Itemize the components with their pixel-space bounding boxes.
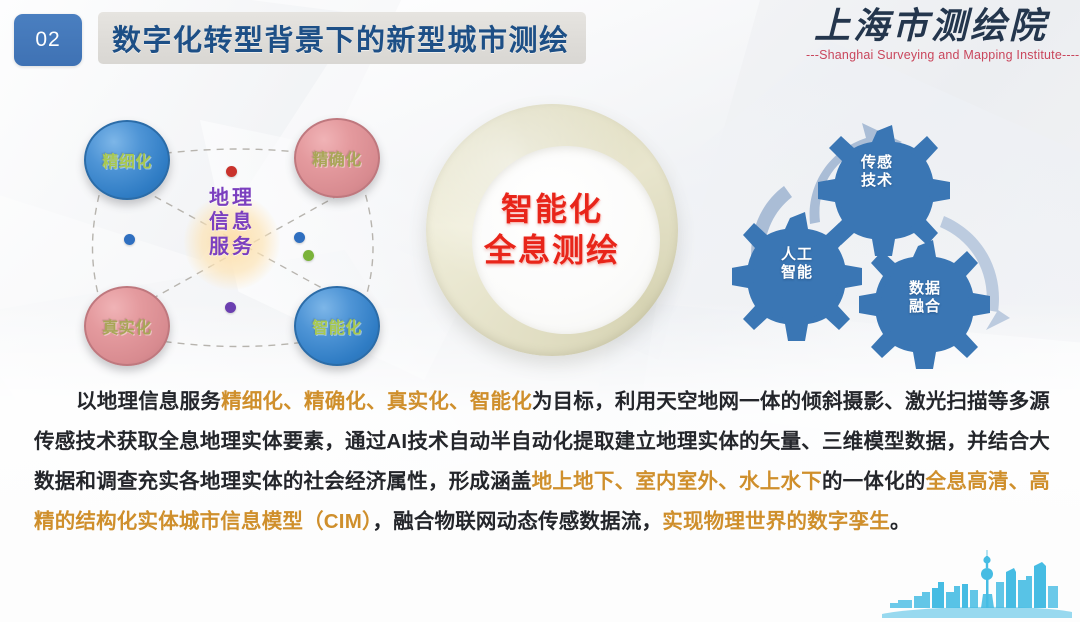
sphere-label: 精确化 [312,146,362,170]
gear-label-line-2: 技术 [842,172,912,190]
section-number-badge: 02 [14,14,82,66]
ring-text: 智能化 全息测绘 [426,189,678,271]
network-node-dot [303,250,314,261]
gear-label-line-2: 智能 [762,264,832,282]
plain-phrase: 。 [890,510,911,533]
sphere-label: 智能化 [312,314,362,338]
sphere-jingxihua: 精细化 [84,120,170,200]
center-label-line-3: 服务 [174,235,290,259]
organization-logo: 上海市测绘院 ---Shanghai Surveying and Mapping… [806,6,1056,62]
sphere-label: 真实化 [102,314,152,338]
highlighted-phrase: 实现物理世界的数字孪生 [662,510,890,533]
gear-label-rengong-zhineng: 人工 智能 [762,246,832,282]
page-title: 数字化转型背景下的新型城市测绘 [112,17,570,59]
title-banner: 数字化转型背景下的新型城市测绘 [98,12,586,64]
highlighted-phrase: 精细化、精确化、真实化、智能化 [221,390,532,413]
gear-label-line-1: 人工 [762,246,832,264]
slide-header: 02 数字化转型背景下的新型城市测绘 上海市测绘院 ---Shanghai Su… [0,0,1080,92]
gear-label-line-2: 融合 [890,298,960,316]
sphere-zhinenghua: 智能化 [294,286,380,366]
sphere-label: 精细化 [102,148,152,172]
center-label: 地理 信息 服务 [174,186,290,259]
graphics-band: 地理 信息 服务 精细化 精确化 真实化 智能化 [0,92,1080,384]
network-node-dot [226,166,237,177]
network-node-dot [124,234,135,245]
shanghai-skyline-icon [882,548,1072,618]
plain-phrase: ，融合物联网动态传感数据流， [372,510,662,533]
sphere-jingquehua: 精确化 [294,118,380,198]
org-name-cn: 上海市测绘院 [806,6,1056,47]
gear-svg [732,98,1032,384]
gear-cluster-graphic: 传感 技术 人工 智能 数据 融合 [732,98,1032,384]
gear-label-shuju-ronghe: 数据 融合 [890,280,960,316]
sphere-zhenshihua: 真实化 [84,286,170,366]
paragraph-text: 以地理信息服务精细化、精确化、真实化、智能化为目标，利用天空地网一体的倾斜摄影、… [34,390,1050,533]
sphere-network-diagram: 地理 信息 服务 精细化 精确化 真实化 智能化 [62,98,402,378]
plain-phrase: 以地理信息服务 [76,390,221,413]
center-label-line-2: 信息 [174,210,290,234]
slide-canvas: 02 数字化转型背景下的新型城市测绘 上海市测绘院 ---Shanghai Su… [0,0,1080,622]
gear-label-line-1: 数据 [890,280,960,298]
center-ring-graphic: 智能化 全息测绘 [412,94,702,382]
gear-label-line-1: 传感 [842,154,912,172]
gear-label-chuangan-jishu: 传感 技术 [842,154,912,190]
org-name-en: ---Shanghai Surveying and Mapping Instit… [806,48,1056,62]
plain-phrase: 的一体化的 [822,470,926,493]
ring-text-line-2: 全息测绘 [426,230,678,271]
body-paragraph: 以地理信息服务精细化、精确化、真实化、智能化为目标，利用天空地网一体的倾斜摄影、… [34,382,1050,542]
network-node-dot [225,302,236,313]
network-node-dot [294,232,305,243]
ring-text-line-1: 智能化 [426,189,678,230]
center-label-line-1: 地理 [174,186,290,210]
highlighted-phrase: 地上地下、室内室外、水上水下 [532,470,822,493]
